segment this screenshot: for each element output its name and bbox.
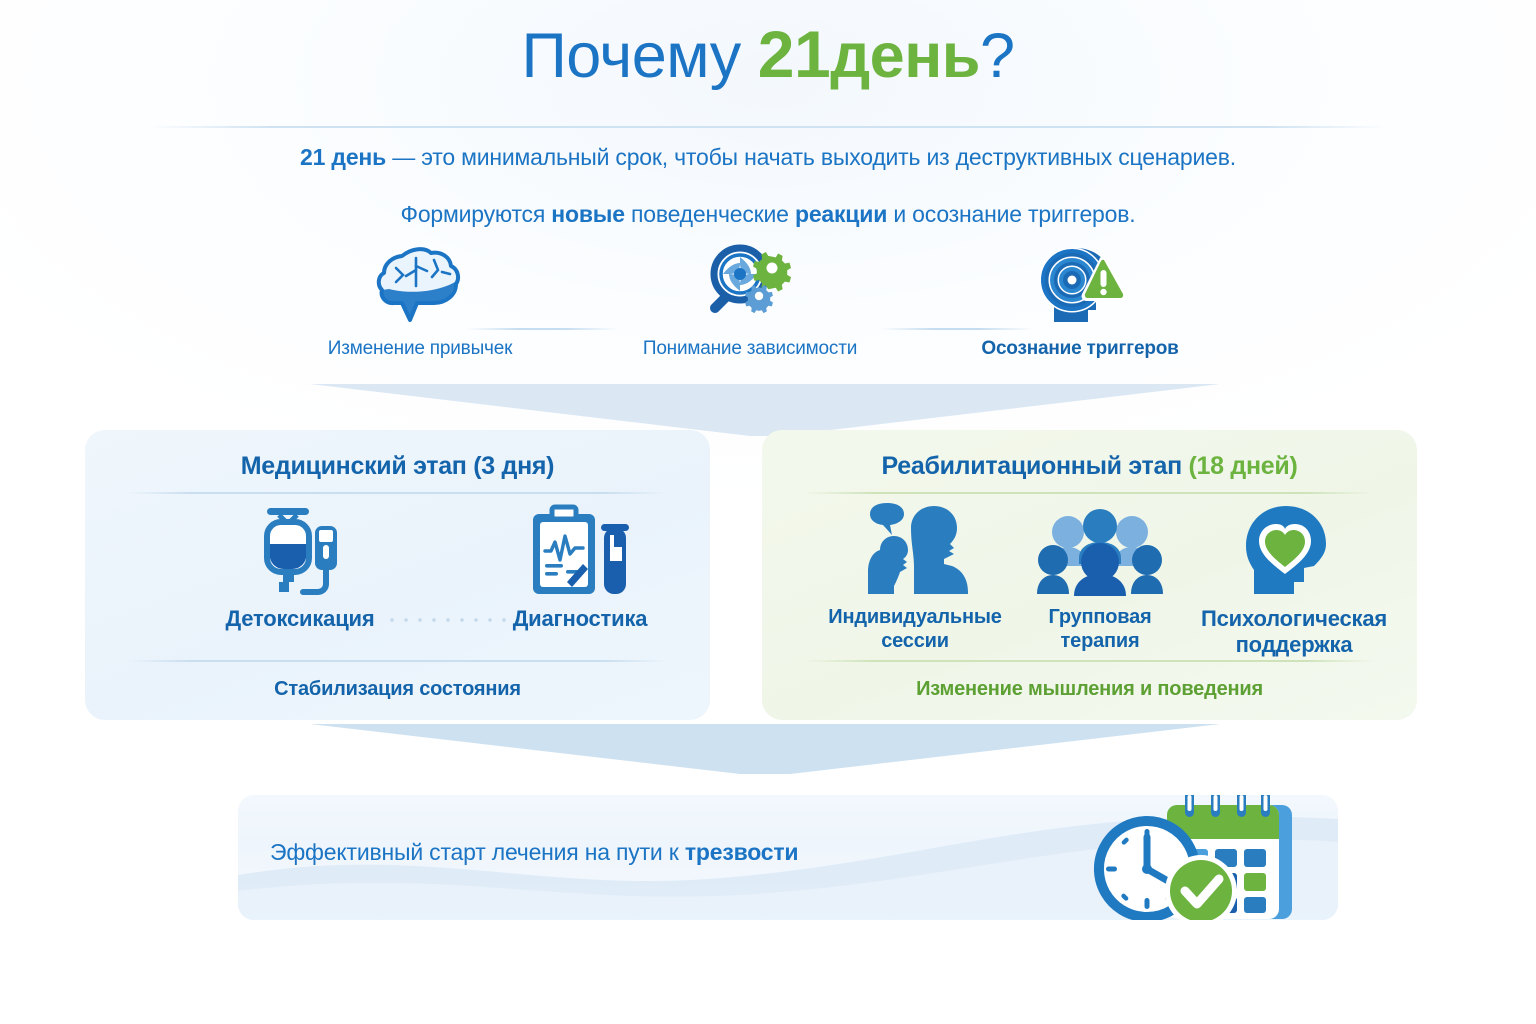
banner-text: Эффективный старт лечения на пути к трез… (270, 839, 798, 866)
rehab-item-psych-support: Психологическая поддержка (1170, 500, 1418, 658)
intro-line-2-bold-2: реакции (795, 201, 887, 227)
group-people-icon (1010, 500, 1190, 598)
title-part2: день (830, 21, 980, 91)
panel-rehab-title-days: (18 дней) (1189, 452, 1298, 480)
panel-rehab-divider-bottom (804, 660, 1375, 662)
panel-medical-title: Медицинский этап (3 дня) (85, 430, 710, 481)
intro-line-1: 21 день — это минимальный срок, чтобы на… (0, 140, 1536, 175)
infographic-canvas: Почему 21день? 21 день — это минимальный… (0, 0, 1536, 1024)
panel-rehab-items: Индивидуальные сессии (762, 500, 1417, 660)
banner-text-bold: трезвости (685, 839, 799, 865)
intro-line-1-rest: — это минимальный срок, чтобы начать вых… (386, 144, 1236, 170)
panel-rehab-title: Реабилитационный этап (18 дней) (762, 430, 1417, 481)
result-banner: Эффективный старт лечения на пути к трез… (238, 795, 1338, 920)
iv-drip-icon (175, 500, 425, 598)
concept-item-triggers: Осознание триггеров (930, 240, 1230, 360)
rehab-label-individual: Индивидуальные сессии (810, 606, 1020, 653)
title-number: 21 (758, 17, 830, 91)
panel-medical-divider-bottom (127, 660, 668, 662)
header-divider (150, 126, 1386, 128)
rehab-label-psych-support: Психологическая поддержка (1170, 606, 1418, 658)
panel-rehab-footer: Изменение мышления и поведения (762, 678, 1417, 701)
intro-line-1-bold: 21 день (300, 144, 386, 170)
flow-chevron-bottom (310, 722, 1220, 782)
title-question-mark: ? (980, 21, 1015, 91)
page-title: Почему 21день? (0, 20, 1536, 89)
medical-item-detox: Детоксикация (175, 500, 425, 632)
intro-line-2: Формируются новые поведенческие реакции … (0, 197, 1536, 232)
intro-line-2-a: Формируются (401, 201, 552, 227)
banner-text-a: Эффективный старт лечения на пути к (270, 839, 685, 865)
panel-medical-stage: Медицинский этап (3 дня) (85, 430, 710, 720)
intro-line-2-bold-1: новые (551, 201, 625, 227)
concept-label-habits: Изменение привычек (270, 338, 570, 360)
panel-rehab-title-main: Реабилитационный этап (882, 452, 1189, 480)
intro-line-2-c: поведенческие (625, 201, 795, 227)
magnifier-gears-icon (600, 240, 900, 332)
two-people-speech-icon (810, 500, 1020, 598)
concept-icon-row: Изменение привычек (290, 240, 1210, 375)
concept-item-understanding: Понимание зависимости (600, 240, 900, 360)
clipboard-testtube-icon (455, 500, 705, 598)
intro-line-2-d: и осознание триггеров. (887, 201, 1135, 227)
head-target-alert-icon (930, 240, 1230, 332)
concept-item-habits: Изменение привычек (270, 240, 570, 360)
rehab-item-group: Групповая терапия (1010, 500, 1190, 653)
concept-label-understanding: Понимание зависимости (600, 338, 900, 360)
intro-text: 21 день — это минимальный срок, чтобы на… (0, 140, 1536, 231)
rehab-label-group: Групповая терапия (1010, 606, 1190, 653)
brain-icon (270, 240, 570, 332)
calendar-clock-check-icon (1089, 795, 1304, 920)
title-part1: Почему (521, 21, 757, 91)
panel-medical-footer: Стабилизация состояния (85, 678, 710, 701)
panel-rehab-divider-top (804, 492, 1375, 494)
panel-medical-divider-top (127, 492, 668, 494)
rehab-item-individual: Индивидуальные сессии (810, 500, 1020, 653)
head-heart-icon (1170, 500, 1418, 598)
medical-item-diagnostics: Диагностика (455, 500, 705, 632)
medical-label-diagnostics: Диагностика (455, 606, 705, 632)
concept-label-triggers: Осознание триггеров (930, 338, 1230, 360)
panel-rehab-stage: Реабилитационный этап (18 дней) Индивиду… (762, 430, 1417, 720)
medical-label-detox: Детоксикация (175, 606, 425, 632)
panel-medical-items: Детоксикация (85, 500, 710, 660)
